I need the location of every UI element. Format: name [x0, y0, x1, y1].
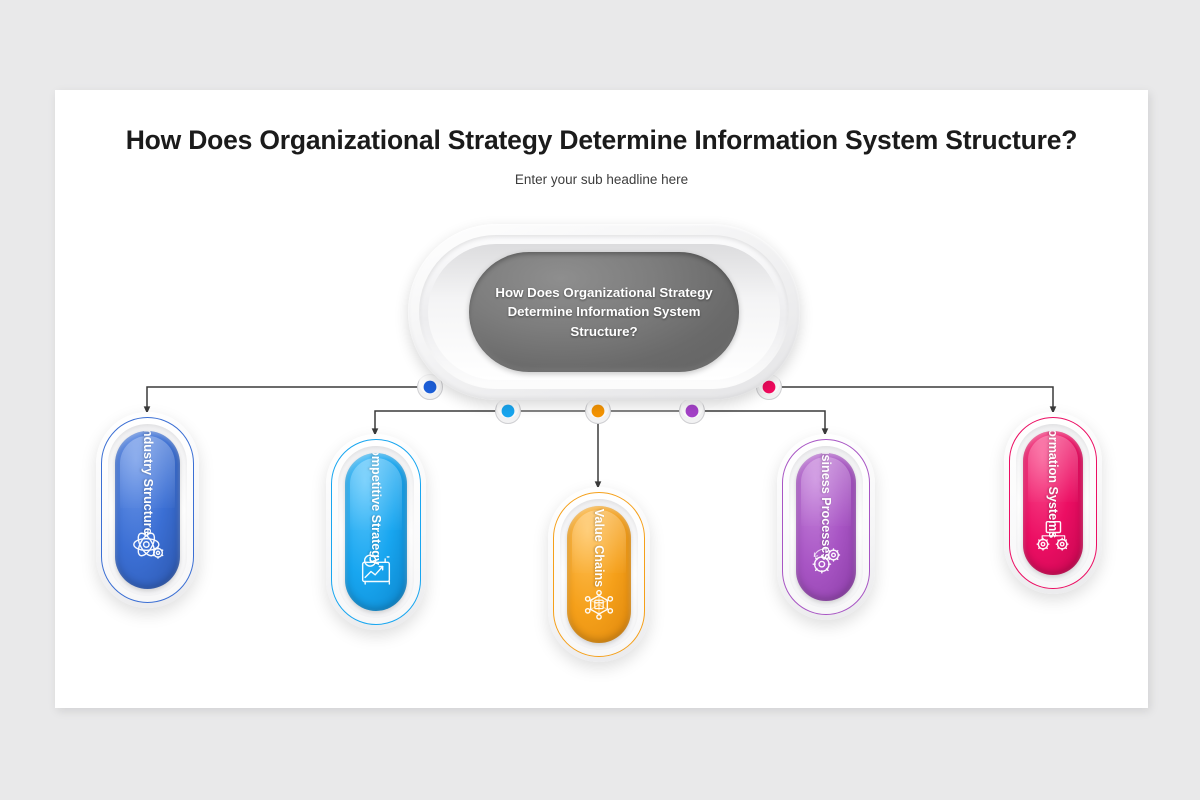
node-core: Industry Structure: [115, 431, 180, 589]
hub-core: How Does Organizational Strategy Determi…: [469, 252, 739, 372]
gears-icon: [806, 540, 846, 580]
hub-label: How Does Organizational Strategy Determi…: [491, 283, 718, 341]
node-value-chains[interactable]: Value Chains: [548, 487, 650, 662]
chart-clock-icon: [356, 549, 396, 589]
node-core: Business Processes: [796, 453, 856, 601]
page-subtitle: Enter your sub headline here: [55, 172, 1148, 187]
node-industry-structure[interactable]: Industry Structure: [96, 412, 199, 608]
monitor-gears-icon: [1033, 515, 1073, 555]
slide-canvas: How Does Organizational Strategy Determi…: [0, 0, 1200, 800]
package-network-icon: [579, 584, 619, 624]
node-information-systems[interactable]: Information Systems: [1004, 412, 1102, 594]
node-business-processes[interactable]: Business Processes: [777, 434, 875, 620]
page-title: How Does Organizational Strategy Determi…: [55, 125, 1148, 156]
node-core: Information Systems: [1023, 431, 1083, 575]
central-hub-node[interactable]: How Does Organizational Strategy Determi…: [408, 224, 800, 400]
node-label: Industry Structure: [139, 431, 155, 535]
node-core: Competitive Strategy: [345, 453, 407, 611]
atom-gear-icon: [128, 527, 168, 567]
node-label: Value Chains: [591, 509, 607, 587]
node-core: Value Chains: [567, 506, 631, 643]
node-competitive-strategy[interactable]: Competitive Strategy: [326, 434, 426, 630]
